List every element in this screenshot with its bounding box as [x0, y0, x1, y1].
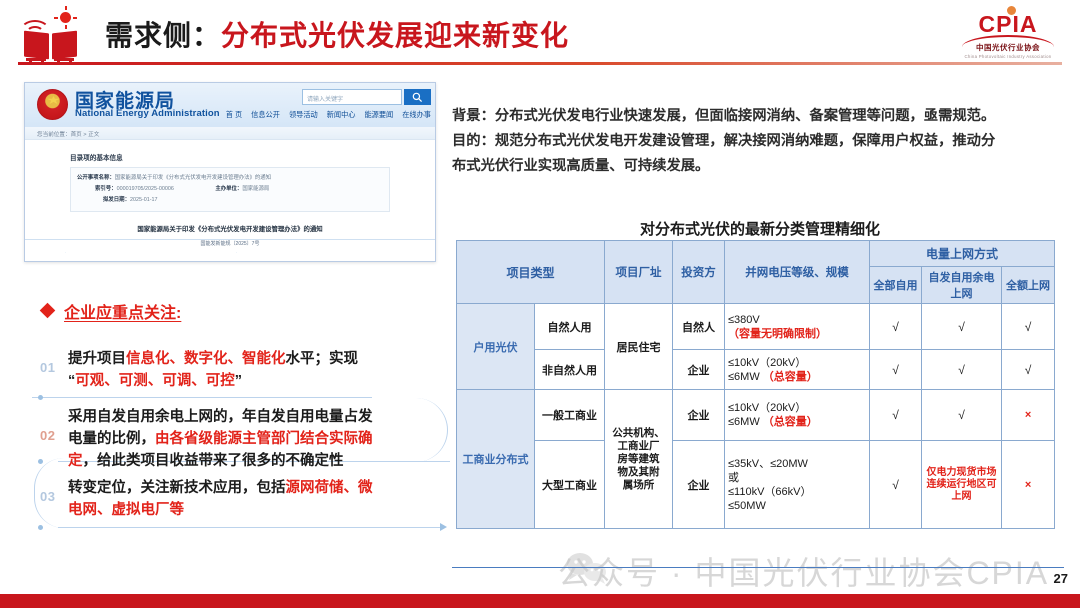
watermark-text: 公众号 · 中国光伏行业协会CPIA — [558, 548, 1049, 594]
th-all-self-use: 全部自用 — [870, 267, 922, 304]
focus-03-l2: 电网、虚拟电厂等 — [68, 502, 184, 518]
site-nav-item-1[interactable]: 信息公开 — [251, 110, 280, 119]
cpia-sun-icon — [1007, 6, 1016, 15]
timeline-line-1 — [32, 397, 372, 398]
cell-investor-enterprise-1: 企业 — [673, 350, 725, 390]
th-project-type: 项目类型 — [457, 241, 605, 304]
cell-r3-c3: × — [1002, 390, 1055, 441]
page-title-prefix: 需求侧： — [105, 20, 221, 51]
doc-meta-box: 公开事项名称：国家能源局关于印发《分布式光伏发电开发建设管理办法》的通知 索引号… — [70, 167, 390, 212]
footer-divider — [452, 567, 1064, 569]
th-full-to-grid: 全额上网 — [1002, 267, 1055, 304]
cell-site-residential: 居民住宅 — [605, 304, 673, 390]
breadcrumb: 您当前位置：首页 > 正文 — [25, 127, 435, 140]
focus-01-l2c: ” — [235, 373, 242, 389]
site-header: 国家能源局 National Energy Administration 请输入… — [25, 83, 435, 127]
timeline-line-3 — [58, 527, 440, 528]
timeline-dot-2 — [38, 459, 43, 464]
focus-02-l2a: 电量的比例， — [68, 431, 155, 447]
doc-field-date-value: 2025-01-17 — [130, 197, 158, 203]
th-voltage: 并网电压等级、规模 — [725, 241, 870, 304]
header-divider — [18, 62, 1062, 65]
doc-field-index-value: 000019705/2025-00006 — [117, 186, 174, 192]
cell-r4-c2: 仅电力现货市场连续运行地区可上网 — [922, 441, 1002, 529]
site-search-input[interactable]: 请输入关键字 — [302, 89, 402, 105]
table-row: 大型工商业 企业 ≤35kV、≤20MW或≤110kV（66kV）≤50MW √… — [457, 441, 1055, 529]
cell-r4-c1: √ — [870, 441, 922, 529]
summary-line-purpose-2: 布式光伏行业实现高质量、可持续发展。 — [452, 154, 1068, 179]
th-investor: 投资方 — [673, 241, 725, 304]
cell-site-public: 公共机构、工商业厂房等建筑物及其附属场所 — [605, 390, 673, 529]
doc-meta-heading: 目录项的基本信息 — [70, 152, 435, 162]
table-header-row-1: 项目类型 项目厂址 投资方 并网电压等级、规模 电量上网方式 — [457, 241, 1055, 267]
cell-r2-c2: √ — [922, 350, 1002, 390]
summary-paragraph: 背景：分布式光伏发电行业快速发展，但面临接网消纳、备案管理等问题，亟需规范。 目… — [452, 104, 1068, 179]
cell-r3-c1: √ — [870, 390, 922, 441]
cell-spec-1-red: （容量无明确限制） — [728, 328, 827, 340]
doc-ribbon-decoration — [25, 239, 436, 262]
wechat-icon — [566, 552, 608, 584]
doc-field-index: 索引号：000019705/2025-00006 主办单位：国家能源局 — [77, 184, 383, 195]
slide-header: 需求侧：分布式光伏发展迎来新变化 CPIA 中国光伏行业协会 China Pho… — [0, 0, 1080, 66]
page-number: 27 — [1054, 571, 1068, 586]
focus-03-l1a: 转变定位，关注新技术应用，包括 — [68, 480, 286, 496]
cell-spec-2: ≤10kV（20kV）≤6MW （总容量） — [725, 350, 870, 390]
cell-spec-4: ≤35kV、≤20MW或≤110kV（66kV）≤50MW — [725, 441, 870, 529]
sun-icon — [60, 12, 71, 23]
cpia-arc — [962, 35, 1054, 47]
table-row: 工商业分布式 一般工商业 公共机构、工商业厂房等建筑物及其附属场所 企业 ≤10… — [457, 390, 1055, 441]
focus-03-l1b: 源网荷储、微 — [286, 480, 373, 496]
timeline-arrow-icon — [440, 523, 447, 531]
slide: 需求侧：分布式光伏发展迎来新变化 CPIA 中国光伏行业协会 China Pho… — [0, 0, 1080, 608]
footer-bar — [0, 594, 1080, 608]
doc-field-org-label: 主办单位： — [215, 186, 242, 192]
focus-item-01-text: 提升项目信息化、数字化、智能化水平；实现 “可观、可测、可调、可控” — [68, 348, 428, 392]
timeline-dot-3 — [38, 525, 43, 530]
page-title: 需求侧：分布式光伏发展迎来新变化 — [105, 14, 569, 54]
classification-table: 项目类型 项目厂址 投资方 并网电压等级、规模 电量上网方式 全部自用 自发自用… — [456, 240, 1055, 529]
site-body: 目录项的基本信息 公开事项名称：国家能源局关于印发《分布式光伏发电开发建设管理办… — [25, 140, 435, 247]
focus-item-03-number: 03 — [40, 489, 55, 504]
cell-spec-1-plain: ≤380V — [728, 314, 760, 326]
site-name-en: National Energy Administration — [75, 108, 220, 119]
cell-spec-3: ≤10kV（20kV）≤6MW （总容量） — [725, 390, 870, 441]
focus-01-l1c: 水平；实现 — [286, 351, 359, 367]
timeline-dot-1 — [38, 395, 43, 400]
focus-02-l1: 采用自发自用余电上网的，年自发自用电量占发 — [68, 409, 373, 425]
site-nav-item-4[interactable]: 能源要闻 — [364, 110, 393, 119]
cell-group-household: 户用光伏 — [457, 304, 535, 390]
focus-02-l3a: 定 — [68, 453, 83, 469]
cell-subtype-non-natural: 非自然人用 — [535, 350, 605, 390]
cell-subtype-general-ci: 一般工商业 — [535, 390, 605, 441]
cell-investor-natural: 自然人 — [673, 304, 725, 350]
summary-line-purpose-1: 目的：规范分布式光伏发电开发建设管理，解决接网消纳难题，保障用户权益，推动分 — [452, 129, 1068, 154]
site-nav-item-3[interactable]: 新闻中心 — [327, 110, 356, 119]
doc-title: 国家能源局关于印发《分布式光伏发电开发建设管理办法》的通知 — [25, 224, 435, 233]
cell-investor-enterprise-2: 企业 — [673, 390, 725, 441]
focus-item-03-text: 转变定位，关注新技术应用，包括源网荷储、微 电网、虚拟电厂等 — [68, 477, 428, 521]
cell-investor-enterprise-3: 企业 — [673, 441, 725, 529]
site-nav[interactable]: 首 页 信息公开 领导活动 新闻中心 能源要闻 在线办事 — [219, 110, 431, 120]
nea-website-screenshot: 国家能源局 National Energy Administration 请输入… — [24, 82, 436, 262]
page-title-accent: 分布式光伏发展迎来新变化 — [221, 20, 569, 51]
cell-group-commercial: 工商业分布式 — [457, 390, 535, 529]
table-row: 非自然人用 企业 ≤10kV（20kV）≤6MW （总容量） √ √ √ — [457, 350, 1055, 390]
th-grid-group: 电量上网方式 — [870, 241, 1055, 267]
focus-heading: 企业应重点关注: — [64, 299, 181, 323]
cell-r1-c1: √ — [870, 304, 922, 350]
table-title: 对分布式光伏的最新分类管理精细化 — [452, 218, 1068, 239]
cpia-wordmark: CPIA — [960, 12, 1056, 36]
focus-item-01-number: 01 — [40, 360, 55, 375]
cell-subtype-natural: 自然人用 — [535, 304, 605, 350]
cpia-name-en: China Photovoltaic Industry Association — [960, 54, 1056, 59]
cpia-logo: CPIA 中国光伏行业协会 China Photovoltaic Industr… — [960, 6, 1056, 58]
cell-subtype-large-ci: 大型工商业 — [535, 441, 605, 529]
cell-spec-2-red: （总容量） — [763, 371, 818, 383]
diamond-bullet-icon — [40, 303, 56, 319]
doc-field-name-label: 公开事项名称： — [77, 175, 115, 181]
focus-timeline: 01 提升项目信息化、数字化、智能化水平；实现 “可观、可测、可调、可控” 02… — [40, 340, 444, 555]
th-surplus-to-grid: 自发自用余电上网 — [922, 267, 1002, 304]
national-emblem-icon — [37, 89, 68, 120]
focus-01-l1b: 信息化、数字化、智能化 — [126, 351, 286, 367]
doc-field-org-value: 国家能源局 — [242, 186, 269, 192]
doc-field-index-label: 索引号： — [95, 186, 117, 192]
summary-line-background: 背景：分布式光伏发电行业快速发展，但面临接网消纳、备案管理等问题，亟需规范。 — [452, 104, 1068, 129]
cell-r1-c2: √ — [922, 304, 1002, 350]
search-button[interactable] — [404, 89, 431, 105]
cell-r2-c1: √ — [870, 350, 922, 390]
focus-01-l1a: 提升项目 — [68, 351, 126, 367]
cell-r2-c3: √ — [1002, 350, 1055, 390]
search-icon — [412, 92, 423, 103]
focus-02-l2b: 由各省级能源主管部门结合实际确 — [155, 431, 373, 447]
cell-spec-1: ≤380V （容量无明确限制） — [725, 304, 870, 350]
doc-field-date: 拟发日期：2025-01-17 — [77, 195, 383, 206]
table-row: 户用光伏 自然人用 居民住宅 自然人 ≤380V （容量无明确限制） √ √ √ — [457, 304, 1055, 350]
site-search-placeholder: 请输入关键字 — [303, 90, 401, 103]
site-nav-item-2[interactable]: 领导活动 — [289, 110, 318, 119]
solar-panel-wifi-icon — [18, 8, 86, 60]
doc-field-name: 公开事项名称：国家能源局关于印发《分布式光伏发电开发建设管理办法》的通知 — [77, 173, 383, 184]
cell-r1-c3: √ — [1002, 304, 1055, 350]
focus-item-02-text: 采用自发自用余电上网的，年自发自用电量占发 电量的比例，由各省级能源主管部门结合… — [68, 406, 428, 472]
site-nav-item-5[interactable]: 在线办事 — [402, 110, 431, 119]
cell-r4-c3: × — [1002, 441, 1055, 529]
cell-spec-3-red: （总容量） — [763, 416, 818, 428]
focus-01-l2b: 可观、可测、可调、可控 — [75, 373, 235, 389]
doc-field-name-value: 国家能源局关于印发《分布式光伏发电开发建设管理办法》的通知 — [115, 175, 271, 181]
th-site: 项目厂址 — [605, 241, 673, 304]
focus-item-02-number: 02 — [40, 428, 55, 443]
site-nav-item-0[interactable]: 首 页 — [226, 110, 242, 119]
cell-r3-c2: √ — [922, 390, 1002, 441]
focus-02-l3b: ，给此类项目收益带来了很多的不确定性 — [83, 453, 344, 469]
doc-field-date-label: 拟发日期： — [103, 197, 130, 203]
